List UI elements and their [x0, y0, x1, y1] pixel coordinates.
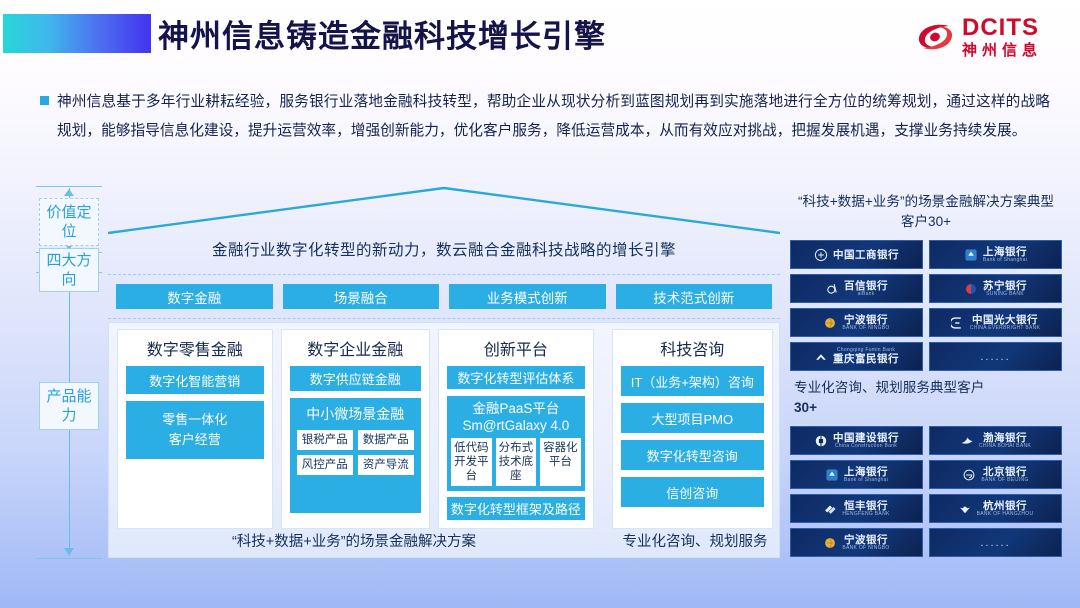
direction-tag[interactable]: 业务模式创新 — [449, 284, 606, 309]
customer-logo-cell[interactable]: 北京银行BANK OF BEIJING — [929, 460, 1062, 489]
fumin-icon — [814, 350, 828, 364]
customer-logo-grid-2: 中国建设银行China Construction Bank 渤海银行CHINA … — [790, 426, 1062, 557]
logo-wordmark: DCITS — [962, 16, 1042, 40]
chip[interactable]: 银税产品 — [297, 430, 353, 450]
customer-name-en: CHINA EVERBRIGHT BANK — [970, 326, 1040, 332]
customer-name: 百信银行 — [844, 280, 888, 292]
customer-logo-cell-more[interactable]: ...... — [929, 528, 1062, 557]
customer-logo-cell[interactable]: Chongqing Fumin Bank重庆富民银行 — [790, 342, 923, 371]
hengfeng-icon — [823, 502, 837, 516]
customer-name: 宁波银行 — [844, 534, 888, 546]
customer-name-en: BANK OF NINGBO — [842, 326, 889, 332]
customer-name: 中国光大银行 — [972, 314, 1038, 326]
customer-name: 中国工商银行 — [833, 247, 899, 262]
customer-logo-cell[interactable]: 上海银行Bank of Shanghai — [790, 460, 923, 489]
intro-block: 神州信息基于多年行业耕耘经验，服务银行业落地金融科技转型，帮助企业从现状分析到蓝… — [40, 88, 1050, 146]
column-title: 创新平台 — [447, 336, 585, 360]
customer-panel: “科技+数据+业务”的场景金融解决方案典型客户30+ 中国工商银行 上海银行Ba… — [790, 186, 1062, 558]
bos-icon — [964, 248, 978, 262]
column-title: 数字零售金融 — [126, 336, 264, 360]
ningbo-icon — [823, 316, 837, 330]
product-column-innovation: 创新平台 数字化转型评估体系 金融PaaS平台 Sm@rtGalaxy 4.0 … — [438, 329, 594, 529]
title-accent-bar — [3, 14, 151, 53]
customer-logo-cell[interactable]: 宁波银行BANK OF NINGBO — [790, 528, 923, 557]
product-column-retail: 数字零售金融 数字化智能营销 零售一体化 客户经营 — [117, 329, 273, 529]
caption-solutions: “科技+数据+业务”的场景金融解决方案 — [109, 530, 599, 551]
column-title: 科技咨询 — [621, 336, 764, 360]
bohai-icon — [960, 434, 974, 448]
product-block[interactable]: 数字化智能营销 — [126, 366, 264, 394]
logo-wordmark-cn: 神州信息 — [962, 43, 1042, 58]
slide-root: 神州信息铸造金融科技增长引擎 DCITS 神州信息 神州信息基于多年行业耕耘经验… — [0, 0, 1080, 608]
rail-label-directions: 四大方向 — [39, 248, 99, 292]
customer-name-en: BANK OF BEIJING — [981, 478, 1028, 484]
direction-tag[interactable]: 场景融合 — [283, 284, 440, 309]
customer-logo-cell-more[interactable]: ...... — [929, 342, 1062, 371]
chip[interactable]: 资产导流 — [358, 455, 414, 475]
suning-icon — [964, 282, 978, 296]
page-title: 神州信息铸造金融科技增长引擎 — [158, 11, 606, 56]
customer-name-en: Bank of Shanghai — [983, 258, 1027, 264]
product-column-consulting: 科技咨询 IT（业务+架构）咨询 大型项目PMO 数字化转型咨询 信创咨询 — [612, 329, 773, 529]
icbc-icon — [814, 248, 828, 262]
rail-label-capability: 产品能力 — [39, 382, 99, 430]
paas-cell[interactable]: 低代码开发平台 — [451, 438, 492, 486]
product-block[interactable]: 大型项目PMO — [621, 403, 764, 433]
paas-cell[interactable]: 容器化平台 — [540, 438, 581, 486]
customer-name: 宁波银行 — [844, 314, 888, 326]
bos-icon — [825, 468, 839, 482]
customer-name-en: China Construction Bank — [835, 444, 897, 450]
customer-logo-cell[interactable]: 杭州银行BANK OF HANGZHOU — [929, 494, 1062, 523]
customer-logo-cell[interactable]: 上海银行Bank of Shanghai — [929, 240, 1062, 269]
customer-logo-cell[interactable]: 宁波银行BANK OF NINGBO — [790, 308, 923, 337]
bullet-square-icon — [40, 96, 49, 105]
center-panel: 金融行业数字化转型的新动力，数云融合金融科技战略的增长引擎 数字金融 场景融合 … — [108, 186, 780, 558]
caption-consulting: 专业化咨询、规划服务 — [609, 530, 781, 551]
product-group-sme[interactable]: 中小微场景金融 银税产品 数据产品 风控产品 资产导流 — [290, 398, 422, 513]
product-block[interactable]: 数字化转型评估体系 — [447, 366, 585, 389]
product-block[interactable]: 零售一体化 客户经营 — [126, 401, 264, 459]
customer-logo-grid-1: 中国工商银行 上海银行Bank of Shanghai 百信银行aiBank 苏… — [790, 240, 1062, 371]
product-capability-panel: 数字零售金融 数字化智能营销 零售一体化 客户经营 数字企业金融 数字供应链金融… — [108, 322, 780, 558]
hangzhou-icon — [958, 502, 972, 516]
customer-name: 恒丰银行 — [844, 500, 888, 512]
product-block[interactable]: 数字供应链金融 — [290, 366, 422, 391]
more-icon: ...... — [980, 351, 1010, 363]
customer-logo-cell[interactable]: 渤海银行CHINA BOHAI BANK — [929, 426, 1062, 455]
ccb-icon — [814, 434, 828, 448]
intro-text: 神州信息基于多年行业耕耘经验，服务银行业落地金融科技转型，帮助企业从现状分析到蓝… — [57, 88, 1050, 146]
customer-name: 上海银行 — [983, 246, 1027, 258]
paas-cell[interactable]: 分布式技术底座 — [496, 438, 537, 486]
customer-logo-cell[interactable]: 百信银行aiBank — [790, 274, 923, 303]
customer-name: 上海银行 — [844, 466, 888, 478]
left-rail: 价值定位 四大方向 产品能力 — [36, 186, 102, 558]
rail-label-value: 价值定位 — [39, 198, 99, 246]
product-block[interactable]: 信创咨询 — [621, 477, 764, 507]
ningbo-icon — [823, 536, 837, 550]
chip[interactable]: 数据产品 — [358, 430, 414, 450]
column-title: 数字企业金融 — [290, 336, 422, 360]
customer-name: 渤海银行 — [983, 432, 1027, 444]
customer-name: 杭州银行 — [983, 500, 1027, 512]
beijing-icon — [962, 468, 976, 482]
customer-name: 重庆富民银行 — [833, 353, 899, 365]
customer-name-en: aiBank — [857, 292, 874, 298]
product-column-enterprise: 数字企业金融 数字供应链金融 中小微场景金融 银税产品 数据产品 风控产品 资产… — [281, 329, 431, 529]
customer-logo-cell[interactable]: 恒丰银行HENGFENG BANK — [790, 494, 923, 523]
customer-name: 北京银行 — [983, 466, 1027, 478]
dcits-logo: DCITS 神州信息 — [915, 16, 1042, 58]
customers-heading-2: 专业化咨询、规划服务典型客户30+ — [790, 371, 1062, 426]
everbright-icon — [951, 316, 965, 330]
customer-name-en: SUNING BANK — [986, 292, 1024, 298]
product-block[interactable]: 数字化转型咨询 — [621, 440, 764, 470]
customer-name-en: BANK OF NINGBO — [842, 546, 889, 552]
group-title: 中小微场景金融 — [306, 404, 404, 424]
customer-name-en: Bank of Shanghai — [844, 478, 888, 484]
paas-title-line: Sm@rtGalaxy 4.0 — [451, 417, 581, 434]
direction-tag[interactable]: 数字金融 — [116, 284, 273, 309]
customer-name: 苏宁银行 — [983, 280, 1027, 292]
aibank-icon — [825, 282, 839, 296]
dcits-swoosh-icon — [915, 17, 955, 57]
customer-name-en: HENGFENG BANK — [842, 512, 889, 518]
direction-tag[interactable]: 技术范式创新 — [616, 284, 773, 309]
customers-heading-1: “科技+数据+业务”的场景金融解决方案典型客户30+ — [790, 186, 1062, 240]
roof-shape-icon — [108, 186, 780, 236]
product-block[interactable]: IT（业务+架构）咨询 — [621, 366, 764, 396]
customer-logo-cell[interactable]: 中国建设银行China Construction Bank — [790, 426, 923, 455]
product-block[interactable]: 数字化转型框架及路径 — [447, 497, 585, 520]
customer-name: 中国建设银行 — [833, 432, 899, 444]
chip[interactable]: 风控产品 — [297, 455, 353, 475]
direction-tags: 数字金融 场景融合 业务模式创新 技术范式创新 — [116, 284, 772, 309]
customer-name-en: CHINA BOHAI BANK — [979, 444, 1031, 450]
customer-name-en: BANK OF HANGZHOU — [977, 512, 1034, 518]
paas-platform-block[interactable]: 金融PaaS平台 Sm@rtGalaxy 4.0 低代码开发平台 分布式技术底座… — [447, 396, 585, 491]
paas-title-line: 金融PaaS平台 — [451, 400, 581, 417]
center-headline: 金融行业数字化转型的新动力，数云融合金融科技战略的增长引擎 — [108, 238, 780, 260]
customer-logo-cell[interactable]: 中国光大银行CHINA EVERBRIGHT BANK — [929, 308, 1062, 337]
customer-logo-cell[interactable]: 苏宁银行SUNING BANK — [929, 274, 1062, 303]
more-icon: ...... — [980, 537, 1010, 549]
customer-logo-cell[interactable]: 中国工商银行 — [790, 240, 923, 269]
